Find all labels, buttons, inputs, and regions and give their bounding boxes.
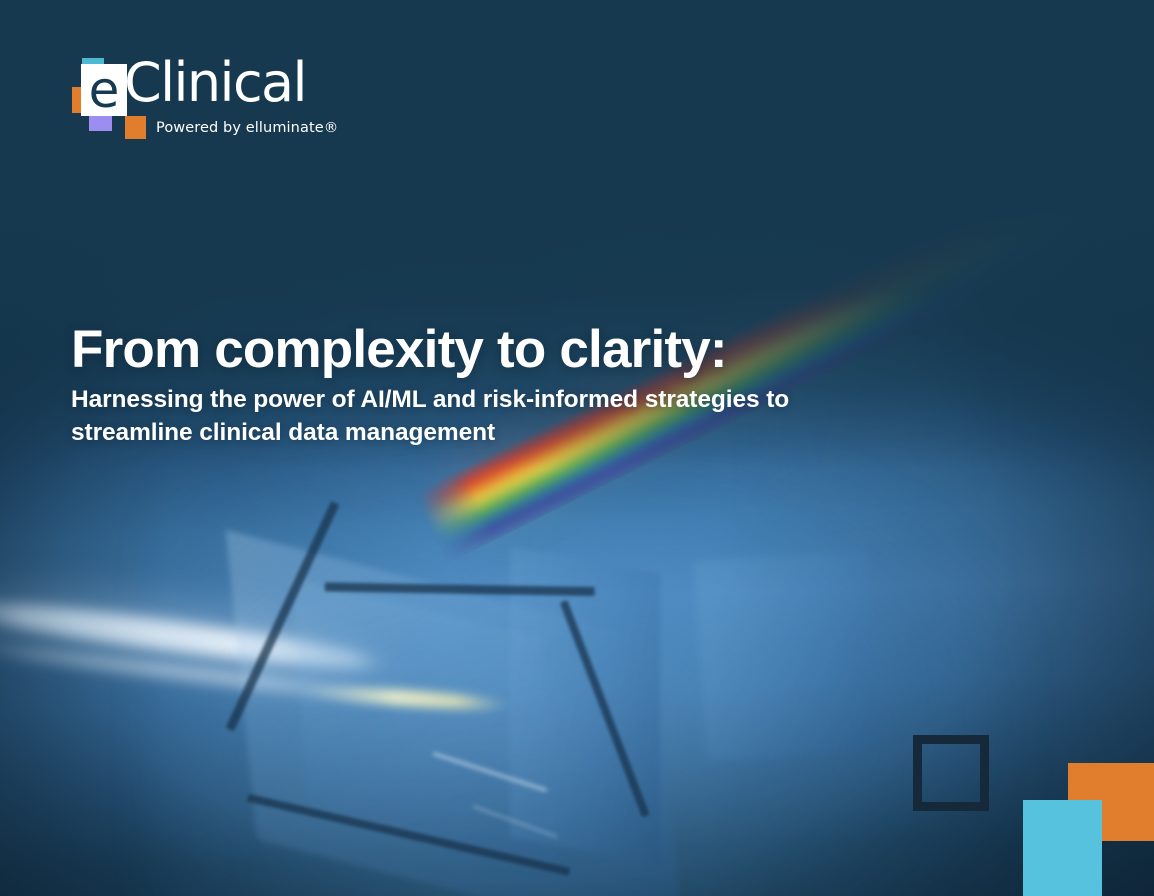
- logo-e-letter: e: [81, 64, 127, 116]
- page-subtitle: Harnessing the power of AI/ML and risk-i…: [71, 383, 916, 451]
- logo-tagline: Powered by elluminate®: [125, 118, 338, 139]
- outline-square-shape: [913, 735, 989, 811]
- eclinical-logo[interactable]: e Clinical Powered by elluminate®: [72, 58, 372, 144]
- logo-tagline-text: Powered by elluminate®: [156, 121, 338, 136]
- cover-page: e Clinical Powered by elluminate® From c…: [0, 0, 1154, 896]
- logo-e-tile: e: [81, 64, 127, 116]
- page-title: From complexity to clarity:: [71, 321, 971, 378]
- orange-square-icon: [125, 118, 146, 139]
- cyan-square-shape: [1023, 800, 1102, 896]
- logo-wordmark: Clinical: [124, 56, 306, 110]
